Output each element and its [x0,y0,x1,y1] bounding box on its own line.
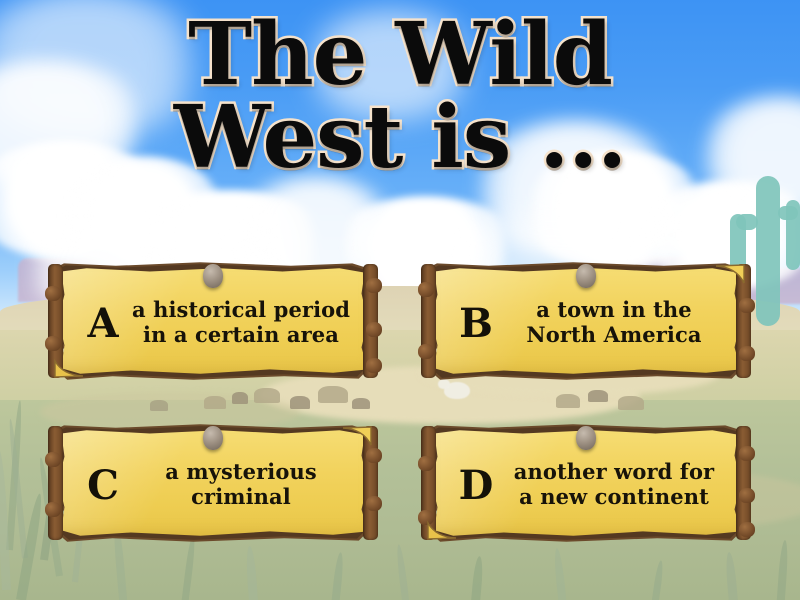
answer-card-a[interactable]: A a historical period in a certain area [55,266,371,376]
quiz-slide: The Wild West is ... A a historical [0,0,800,600]
answer-card-a-content: A a historical period in a certain area [55,266,371,376]
answer-options: A a historical period in a certain area … [0,0,800,600]
answer-letter-b: B [448,304,504,344]
answer-letter-a: A [75,304,131,344]
answer-card-b-content: B a town in the North America [428,266,744,376]
answer-card-d-content: D another word for a new continent [428,428,744,538]
answer-letter-d: D [448,466,504,506]
answer-text-d: another word for a new continent [504,460,730,510]
answer-text-a: a historical period in a certain area [131,298,357,348]
answer-card-c-content: C a mysterious criminal [55,428,371,538]
answer-card-c[interactable]: C a mysterious criminal [55,428,371,538]
answer-text-c: a mysterious criminal [131,460,357,510]
answer-card-b[interactable]: B a town in the North America [428,266,744,376]
answer-text-b: a town in the North America [504,298,730,348]
answer-card-d[interactable]: D another word for a new continent [428,428,744,538]
answer-letter-c: C [75,466,131,506]
